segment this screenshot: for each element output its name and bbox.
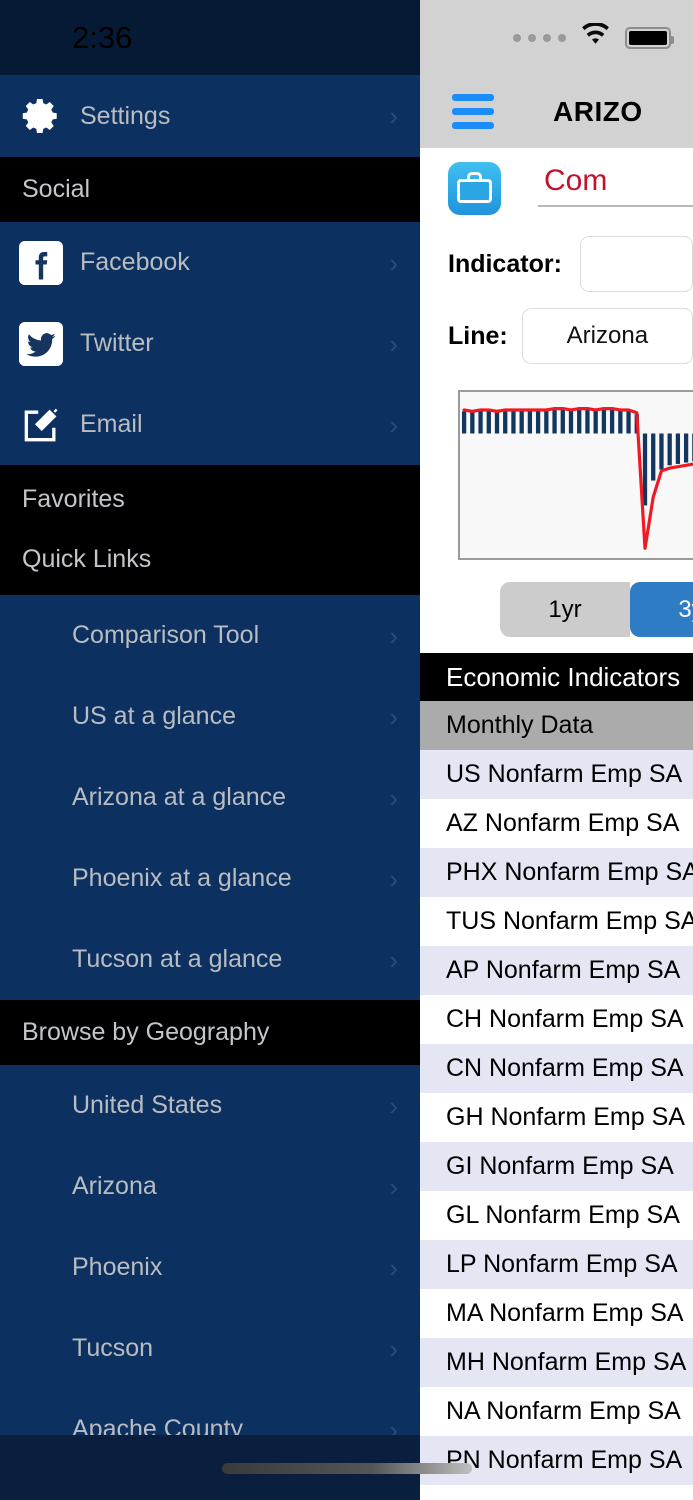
sidebar-item-email[interactable]: Email › (0, 384, 420, 465)
email-icon (18, 402, 64, 448)
line-label: Line: (448, 322, 508, 351)
indicator-chart[interactable] (458, 390, 693, 560)
sidebar-item-twitter[interactable]: Twitter › (0, 303, 420, 384)
indicator-field-row: Indicator: (420, 228, 693, 300)
sidebar-section-header-favorites: Favorites Quick Links (0, 465, 420, 595)
list-item[interactable]: LP Nonfarm Emp SA (420, 1240, 693, 1289)
range-segmented-control[interactable]: 1yr 3yr (500, 582, 693, 637)
briefcase-icon (448, 162, 501, 215)
list-item-label: PHX Nonfarm Emp SA (446, 858, 693, 887)
sidebar-item-arizona[interactable]: Arizona › (0, 1146, 420, 1227)
list-item[interactable]: MA Nonfarm Emp SA (420, 1289, 693, 1338)
sidebar-item-label: Twitter (80, 329, 154, 358)
chevron-right-icon: › (389, 331, 398, 357)
sidebar-item-phoenix[interactable]: Phoenix › (0, 1227, 420, 1308)
section-title-favorites: Favorites (22, 469, 125, 529)
sidebar-item-comparison-tool[interactable]: Comparison Tool › (0, 595, 420, 676)
chevron-right-icon: › (389, 1336, 398, 1362)
list-item-label: MH Nonfarm Emp SA (446, 1348, 686, 1377)
list-item-label: GH Nonfarm Emp SA (446, 1103, 685, 1132)
facebook-icon (18, 240, 64, 286)
sidebar-item-label: Facebook (80, 248, 190, 277)
list-item[interactable]: GH Nonfarm Emp SA (420, 1093, 693, 1142)
sidebar-item-label: Tucson at a glance (72, 945, 282, 974)
chevron-right-icon: › (389, 623, 398, 649)
chevron-right-icon: › (389, 1255, 398, 1281)
list-item-label: PN Nonfarm Emp SA (446, 1446, 682, 1475)
tool-title: Com (544, 164, 607, 198)
sidebar-item-label: Settings (80, 102, 170, 131)
sidebar-item-label: Arizona (72, 1172, 157, 1201)
sidebar-status-bar: 2:36 (0, 0, 420, 75)
monthly-data-column-header: Monthly Data (420, 701, 693, 750)
navigation-bar: ARIZO (420, 75, 693, 148)
indicator-label: Indicator: (448, 250, 562, 279)
list-item-label: NA Nonfarm Emp SA (446, 1397, 681, 1426)
twitter-icon (18, 321, 64, 367)
list-item-label: GI Nonfarm Emp SA (446, 1152, 674, 1181)
list-item-label: TUS Nonfarm Emp SA (446, 907, 693, 936)
list-item[interactable]: TUS Nonfarm Emp SA (420, 897, 693, 946)
title-underline (538, 205, 693, 207)
list-item[interactable]: US Nonfarm Emp SA (420, 750, 693, 799)
sidebar-item-tucson-at-a-glance[interactable]: Tucson at a glance › (0, 919, 420, 1000)
list-item[interactable]: AP Nonfarm Emp SA (420, 946, 693, 995)
navigation-drawer: 2:36 Settings › Social (0, 0, 420, 1500)
chevron-right-icon: › (389, 1093, 398, 1119)
list-item-label: CN Nonfarm Emp SA (446, 1054, 684, 1083)
range-option-1yr[interactable]: 1yr (500, 582, 630, 637)
status-bar-time: 2:36 (72, 20, 132, 56)
page-title: ARIZO (553, 96, 643, 128)
sidebar-item-settings[interactable]: Settings › (0, 75, 420, 157)
list-item-label: LP Nonfarm Emp SA (446, 1250, 678, 1279)
sidebar-item-tucson[interactable]: Tucson › (0, 1308, 420, 1389)
section-title: Browse by Geography (22, 1018, 269, 1047)
line-select[interactable]: Arizona (522, 308, 693, 364)
indicator-select[interactable] (580, 236, 693, 292)
sidebar-item-phoenix-at-a-glance[interactable]: Phoenix at a glance › (0, 838, 420, 919)
chart-canvas (460, 392, 693, 558)
sidebar-item-label: Phoenix (72, 1253, 162, 1282)
chevron-right-icon: › (389, 412, 398, 438)
sidebar-item-us-at-a-glance[interactable]: US at a glance › (0, 676, 420, 757)
wifi-icon (579, 23, 612, 52)
list-item-label: CH Nonfarm Emp SA (446, 1005, 684, 1034)
gear-icon (18, 93, 64, 139)
sidebar-section-header-geography: Browse by Geography (0, 1000, 420, 1065)
sidebar-item-united-states[interactable]: United States › (0, 1065, 420, 1146)
list-item-label: AP Nonfarm Emp SA (446, 956, 680, 985)
chevron-right-icon: › (389, 1174, 398, 1200)
list-item-label: AZ Nonfarm Emp SA (446, 809, 679, 838)
home-indicator (222, 1463, 472, 1474)
list-item[interactable]: MH Nonfarm Emp SA (420, 1338, 693, 1387)
sidebar-item-label: Comparison Tool (72, 621, 259, 650)
sidebar-item-arizona-at-a-glance[interactable]: Arizona at a glance › (0, 757, 420, 838)
line-field-row: Line: Arizona (420, 300, 693, 372)
sidebar-item-label: Arizona at a glance (72, 783, 286, 812)
list-item-label: US Nonfarm Emp SA (446, 760, 682, 789)
sidebar-item-label: US at a glance (72, 702, 236, 731)
sidebar-item-label: Email (80, 410, 143, 439)
list-item[interactable]: GL Nonfarm Emp SA (420, 1191, 693, 1240)
list-item[interactable]: AZ Nonfarm Emp SA (420, 799, 693, 848)
hamburger-menu-icon[interactable] (452, 94, 494, 129)
list-item-label: GL Nonfarm Emp SA (446, 1201, 680, 1230)
sidebar-item-label: United States (72, 1091, 222, 1120)
economic-indicators-header: Economic Indicators (420, 653, 693, 701)
signal-dots-icon (513, 34, 566, 42)
section-title: Social (22, 175, 90, 204)
list-item[interactable]: NA Nonfarm Emp SA (420, 1387, 693, 1436)
list-item[interactable]: CN Nonfarm Emp SA (420, 1044, 693, 1093)
section-title-quick-links: Quick Links (22, 529, 151, 589)
sidebar-item-label: Phoenix at a glance (72, 864, 292, 893)
list-item[interactable]: CH Nonfarm Emp SA (420, 995, 693, 1044)
list-item[interactable]: PN Nonfarm Emp SA (420, 1436, 693, 1485)
chevron-right-icon: › (389, 785, 398, 811)
ios-status-bar (420, 0, 693, 75)
chevron-right-icon: › (389, 866, 398, 892)
chevron-right-icon: › (389, 947, 398, 973)
main-content-panel: ARIZO Com Indicator: Line: Arizona 1yr 3… (420, 0, 693, 1500)
chevron-right-icon: › (389, 250, 398, 276)
tool-header-row: Com (420, 148, 693, 228)
chevron-right-icon: › (389, 103, 398, 129)
sidebar-section-header-social: Social (0, 157, 420, 222)
list-item[interactable]: GI Nonfarm Emp SA (420, 1142, 693, 1191)
sidebar-item-facebook[interactable]: Facebook › (0, 222, 420, 303)
range-option-3yr[interactable]: 3yr (630, 582, 693, 637)
list-item[interactable]: PHX Nonfarm Emp SA (420, 848, 693, 897)
chevron-right-icon: › (389, 704, 398, 730)
indicator-list: US Nonfarm Emp SAAZ Nonfarm Emp SAPHX No… (420, 750, 693, 1485)
list-item-label: MA Nonfarm Emp SA (446, 1299, 684, 1328)
sidebar-item-label: Tucson (72, 1334, 153, 1363)
battery-full-icon (625, 27, 671, 49)
